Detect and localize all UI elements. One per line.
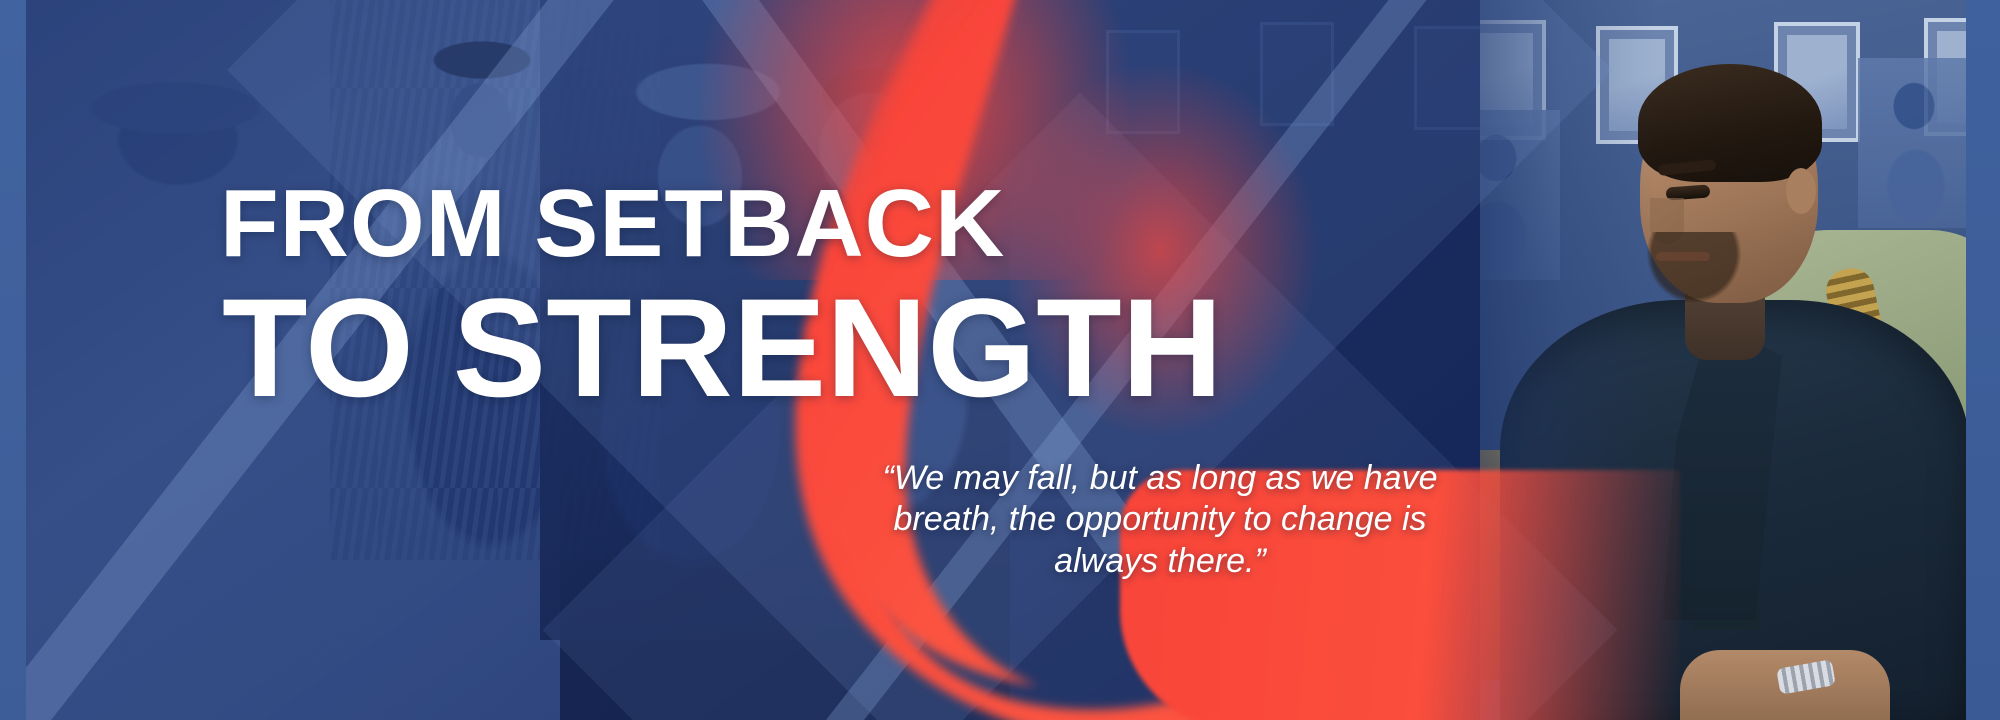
headline-line-1: FROM SETBACK	[220, 176, 1005, 272]
banner-copy: FROM SETBACK TO STRENGTH “We may fall, b…	[0, 0, 2000, 720]
hero-banner: FROM SETBACK TO STRENGTH “We may fall, b…	[0, 0, 2000, 720]
pull-quote: “We may fall, but as long as we have bre…	[880, 458, 1440, 582]
headline-line-2: TO STRENGTH	[222, 278, 1223, 418]
